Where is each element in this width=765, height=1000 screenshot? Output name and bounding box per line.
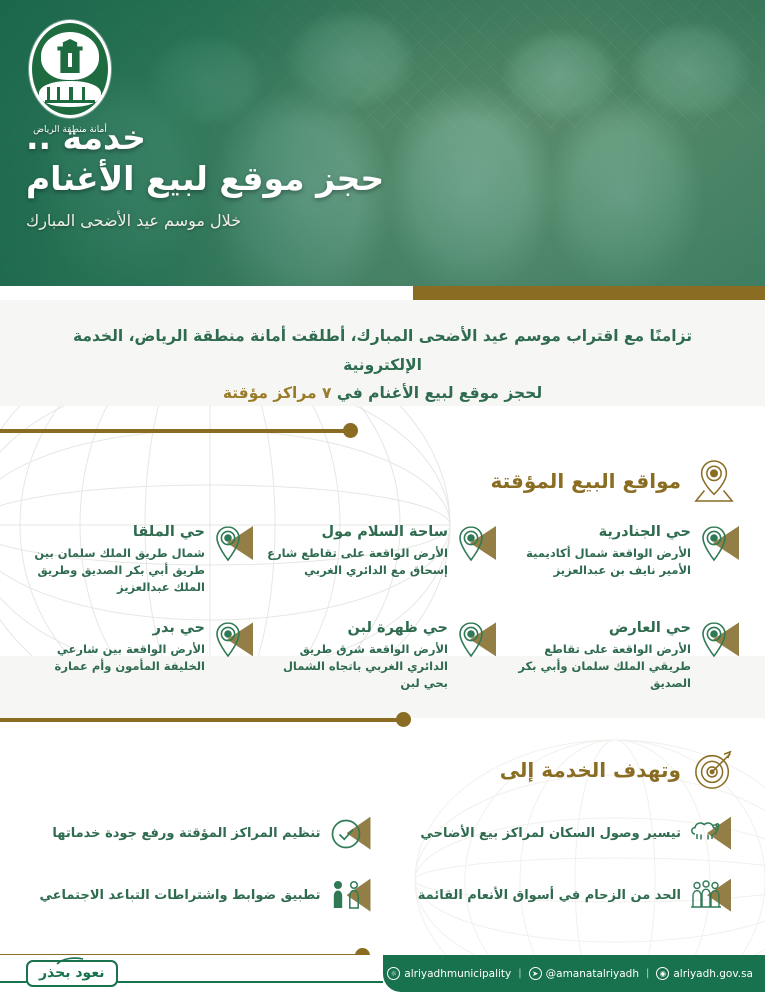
divider-1 — [0, 418, 765, 444]
hero-title-line2: حجز موقع لبيع الأغنام — [26, 159, 765, 199]
campaign-badge-swoosh-icon — [56, 956, 84, 966]
logo-caption: أمانة منطقة الرياض — [20, 125, 120, 135]
location-description: الأرض الواقعة بين شارعي الخليفة المأمون … — [24, 641, 205, 676]
check-circle-icon — [329, 814, 375, 854]
location-name: حي الجنادرية — [510, 523, 691, 543]
goals-section-header: وتهدف الخدمة إلى — [0, 733, 765, 799]
locations-section-header: مواقع البيع المؤقتة — [0, 444, 765, 510]
footer-website[interactable]: ◉ alriyadh.gov.sa — [656, 967, 753, 980]
divider-2 — [0, 707, 765, 733]
intro-line2-highlight: ٧ مراكز مؤقتة — [223, 384, 332, 402]
content-sheet: تزامنًا مع اقتراب موسم عيد الأضحى المبار… — [0, 300, 765, 955]
social-distancing-icon — [329, 876, 375, 916]
goal-text: تنظيم المراكز المؤقتة ورفع جودة خدماتها — [52, 825, 320, 843]
location-description: الأرض الواقعة شرق طريق الدائري الغربي با… — [267, 641, 448, 693]
goals-section-title: وتهدف الخدمة إلى — [500, 758, 681, 782]
snapchat-icon: ☼ — [387, 967, 400, 980]
location-name: حي بدر — [24, 619, 205, 639]
location-description: الأرض الواقعة على تقاطع شارع إسحاق مع ال… — [267, 545, 448, 580]
locations-section-title: مواقع البيع المؤقتة — [490, 469, 681, 493]
location-card[interactable]: حي الملقا شمال طريق الملك سلمان بين طريق… — [18, 516, 261, 606]
location-card[interactable]: حي ظهرة لبن الأرض الواقعة شرق طريق الدائ… — [261, 612, 504, 702]
footer-separator-2: | — [518, 968, 521, 979]
goal-item[interactable]: تنظيم المراكز المؤقتة ورفع جودة خدماتها — [22, 805, 383, 863]
footer-social-bar: ◉ alriyadh.gov.sa | ➤ @amanatalriyadh | … — [383, 955, 765, 992]
hero-banner: أمانة منطقة الرياض خدمة .. حجز موقع لبيع… — [0, 0, 765, 300]
location-pin-icon — [211, 618, 255, 662]
hero-title-line1: خدمة .. — [26, 120, 765, 157]
twitter-icon: ➤ — [529, 967, 542, 980]
locations-grid: حي الملقا شمال طريق الملك سلمان بين طريق… — [0, 510, 765, 707]
location-card[interactable]: ساحة السلام مول الأرض الواقعة على تقاطع … — [261, 516, 504, 606]
hero-subtitle: خلال موسم عيد الأضحى المبارك — [26, 211, 765, 230]
hero-gold-bar — [413, 286, 765, 300]
facebook-icon: f — [370, 967, 383, 980]
footer-separator-1: | — [646, 968, 649, 979]
footer-social-handles[interactable]: ▢ f ☼ alriyadhmunicipality — [353, 967, 511, 980]
intro-line2-plain: لحجز موقع لبيع الأغنام في — [337, 384, 542, 402]
emblem-icon — [29, 20, 111, 118]
riyadh-municipality-logo: أمانة منطقة الرياض — [20, 20, 120, 135]
location-name: ساحة السلام مول — [267, 523, 448, 543]
goal-text: تطبيق ضوابط واشتراطات التباعد الاجتماعي — [40, 887, 321, 905]
location-pin-icon — [697, 618, 741, 662]
sheep-icon — [689, 814, 735, 854]
location-name: حي الملقا — [24, 523, 205, 543]
location-description: الأرض الواقعة على تقاطع طريقي الملك سلما… — [510, 641, 691, 693]
location-name: حي ظهرة لبن — [267, 619, 448, 639]
goals-grid: تنظيم المراكز المؤقتة ورفع جودة خدماتها … — [0, 799, 765, 931]
location-card[interactable]: حي الجنادرية الأرض الواقعة شمال أكاديمية… — [504, 516, 747, 606]
location-card[interactable]: حي العارض الأرض الواقعة على تقاطع طريقي … — [504, 612, 747, 702]
location-pin-icon — [454, 618, 498, 662]
goal-item[interactable]: الحد من الزحام في أسواق الأنعام القائمة — [383, 867, 744, 925]
goal-text: الحد من الزحام في أسواق الأنعام القائمة — [418, 887, 681, 905]
instagram-icon: ▢ — [353, 967, 366, 980]
intro-line1: تزامنًا مع اقتراب موسم عيد الأضحى المبار… — [73, 327, 692, 374]
goal-item[interactable]: تطبيق ضوابط واشتراطات التباعد الاجتماعي — [22, 867, 383, 925]
hero-white-bar — [0, 286, 413, 300]
globe-icon: ◉ — [656, 967, 669, 980]
location-description: شمال طريق الملك سلمان بين طريق أبي بكر ا… — [24, 545, 205, 597]
footer-twitter[interactable]: ➤ @amanatalriyadh — [529, 967, 639, 980]
location-pin-icon — [697, 522, 741, 566]
location-pin-icon — [454, 522, 498, 566]
footer: نعود بحذر ◉ alriyadh.gov.sa | ➤ @amanata… — [0, 955, 765, 1000]
hero-text-block: خدمة .. حجز موقع لبيع الأغنام خلال موسم … — [0, 120, 765, 230]
crowd-people-icon — [689, 876, 735, 916]
target-dartboard-icon — [693, 747, 735, 793]
goal-text: تيسير وصول السكان لمراكز بيع الأضاحي — [420, 825, 681, 843]
location-name: حي العارض — [510, 619, 691, 639]
location-description: الأرض الواقعة شمال أكاديمية الأمير نايف … — [510, 545, 691, 580]
intro-block: تزامنًا مع اقتراب موسم عيد الأضحى المبار… — [0, 300, 765, 418]
location-pin-icon — [211, 522, 255, 566]
divider-3 — [0, 943, 765, 955]
map-location-pin-icon — [693, 458, 735, 504]
location-card[interactable]: حي بدر الأرض الواقعة بين شارعي الخليفة ا… — [18, 612, 261, 702]
goal-item[interactable]: تيسير وصول السكان لمراكز بيع الأضاحي — [383, 805, 744, 863]
